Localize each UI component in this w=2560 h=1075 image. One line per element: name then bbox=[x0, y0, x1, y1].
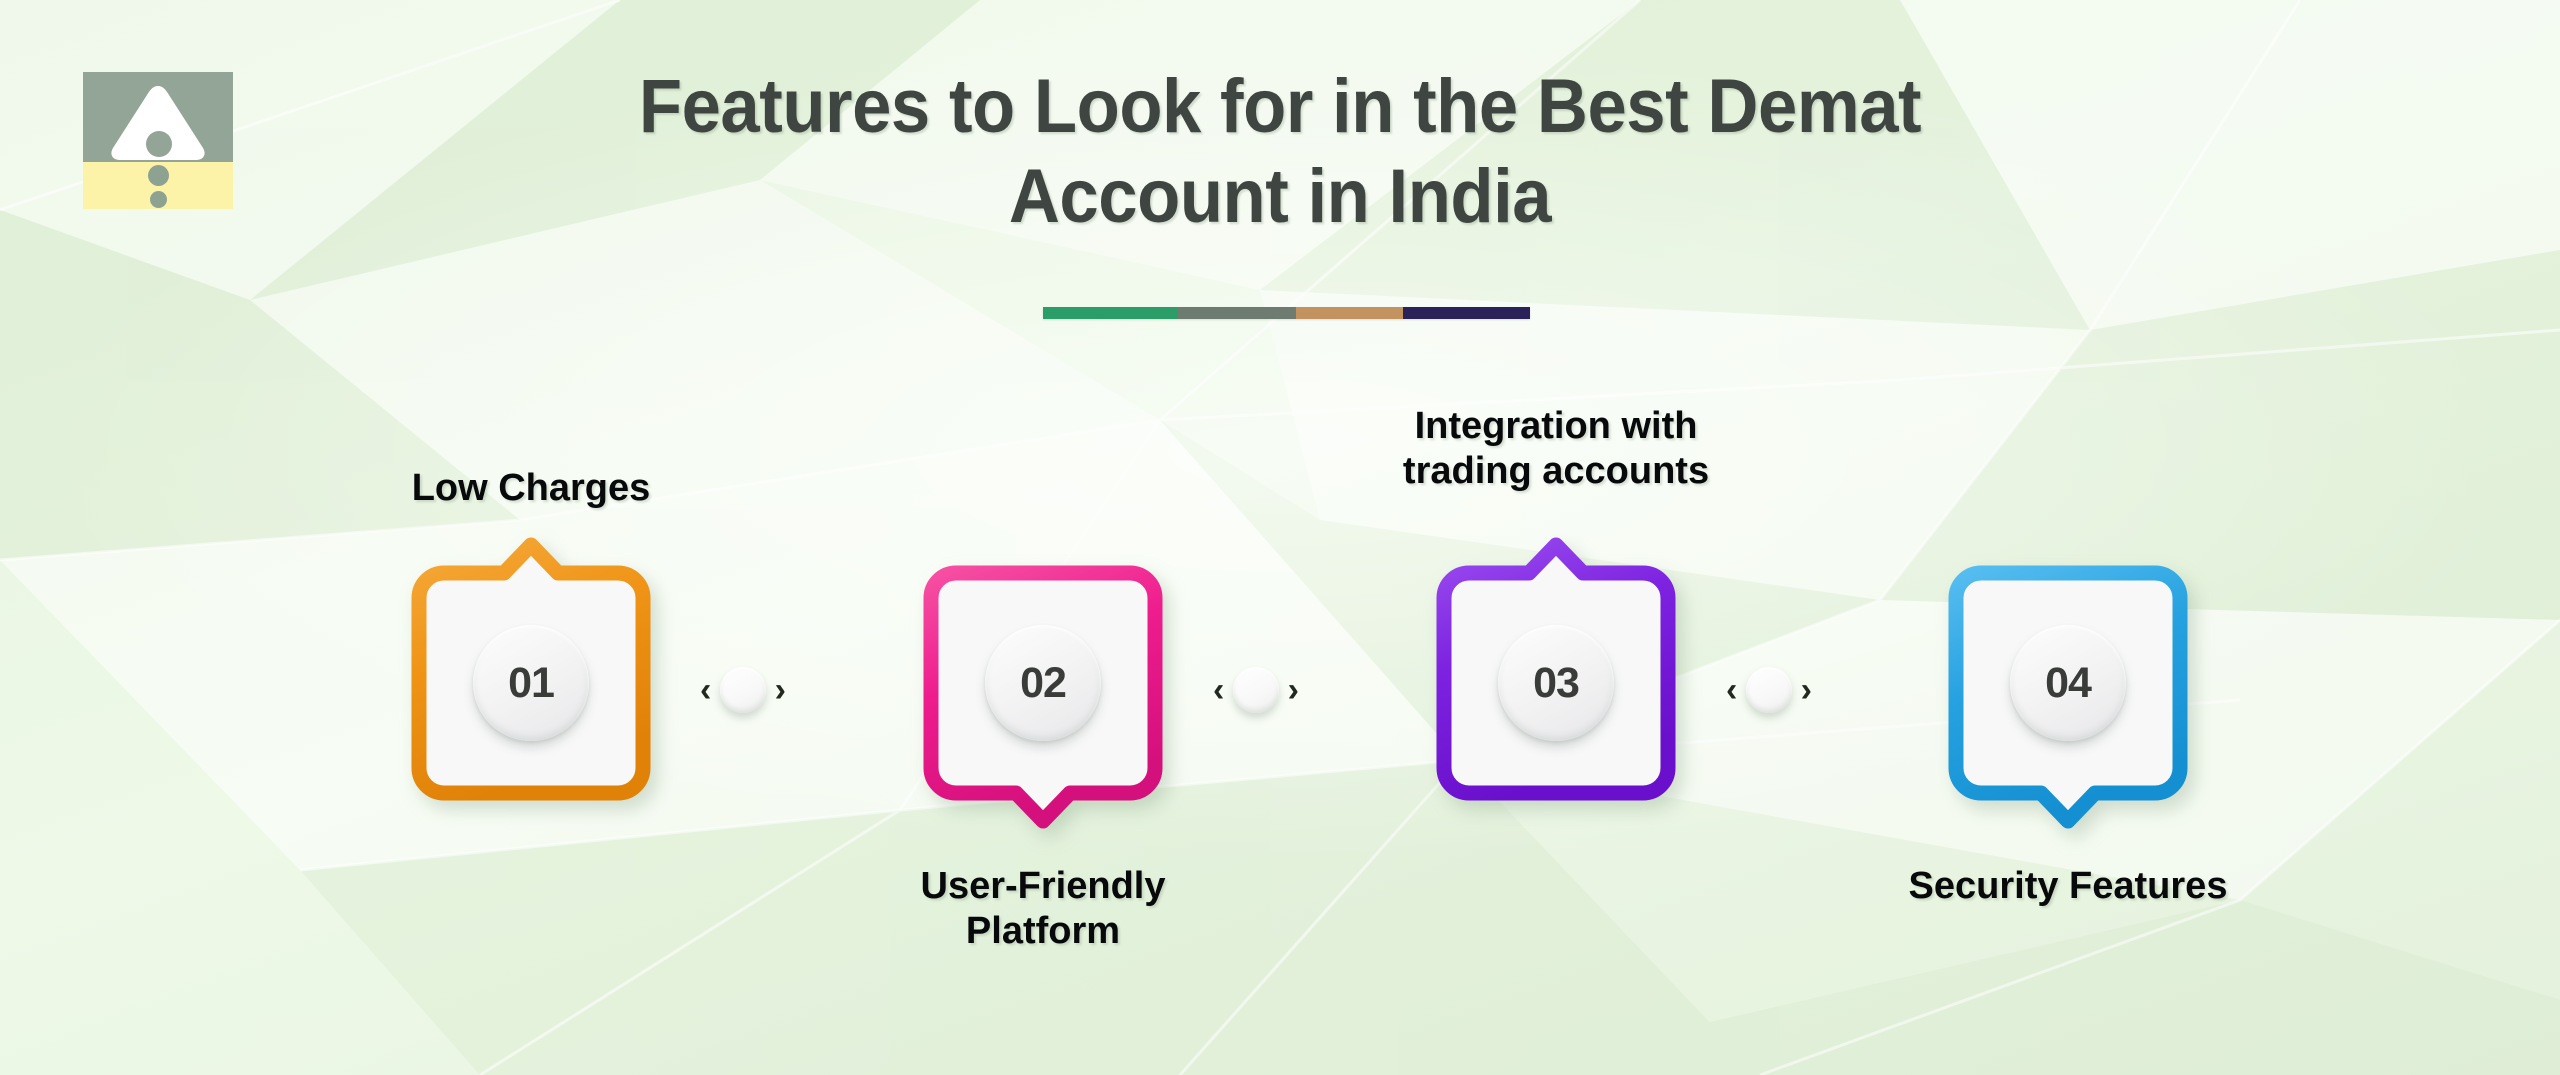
connector-dot bbox=[1233, 667, 1279, 713]
chevron-left-icon: ‹ bbox=[1726, 673, 1737, 707]
step-number-04: 04 bbox=[2045, 662, 2091, 705]
chevron-right-icon: › bbox=[1288, 673, 1299, 707]
page-title: Features to Look for in the Best Demat A… bbox=[90, 62, 2471, 241]
step-label-01: Low Charges bbox=[281, 466, 781, 511]
chevron-right-icon: › bbox=[775, 673, 786, 707]
infographic-canvas: Features to Look for in the Best Demat A… bbox=[0, 0, 2560, 1075]
step-number-02: 02 bbox=[1020, 662, 1066, 705]
step-label-04: Security Features bbox=[1818, 864, 2318, 909]
step-card-01[interactable]: 01 bbox=[418, 572, 644, 794]
step-number-03: 03 bbox=[1533, 662, 1579, 705]
step-number-badge-04: 04 bbox=[2010, 625, 2126, 741]
connector-dot bbox=[720, 667, 766, 713]
divider-segment-green bbox=[1043, 307, 1177, 319]
title-divider bbox=[1043, 307, 1530, 319]
step-connector-3: ‹ › bbox=[1726, 659, 1812, 721]
divider-segment-gray bbox=[1177, 307, 1296, 319]
chevron-right-icon: › bbox=[1801, 673, 1812, 707]
chevron-left-icon: ‹ bbox=[700, 673, 711, 707]
step-card-03[interactable]: 03 bbox=[1443, 572, 1669, 794]
divider-segment-navy bbox=[1403, 307, 1530, 319]
step-card-04[interactable]: 04 bbox=[1955, 572, 2181, 794]
step-number-01: 01 bbox=[508, 662, 554, 705]
page-title-line-1: Features to Look for in the Best Demat bbox=[90, 62, 2471, 152]
connector-dot bbox=[1746, 667, 1792, 713]
step-label-03: Integration with trading accounts bbox=[1306, 404, 1806, 494]
step-number-badge-01: 01 bbox=[473, 625, 589, 741]
step-number-badge-02: 02 bbox=[985, 625, 1101, 741]
step-card-02[interactable]: 02 bbox=[930, 572, 1156, 794]
step-label-02: User-Friendly Platform bbox=[793, 864, 1293, 954]
divider-segment-tan bbox=[1296, 307, 1403, 319]
step-connector-1: ‹ › bbox=[700, 659, 786, 721]
step-connector-2: ‹ › bbox=[1213, 659, 1299, 721]
step-number-badge-03: 03 bbox=[1498, 625, 1614, 741]
page-title-line-2: Account in India bbox=[90, 152, 2471, 242]
chevron-left-icon: ‹ bbox=[1213, 673, 1224, 707]
